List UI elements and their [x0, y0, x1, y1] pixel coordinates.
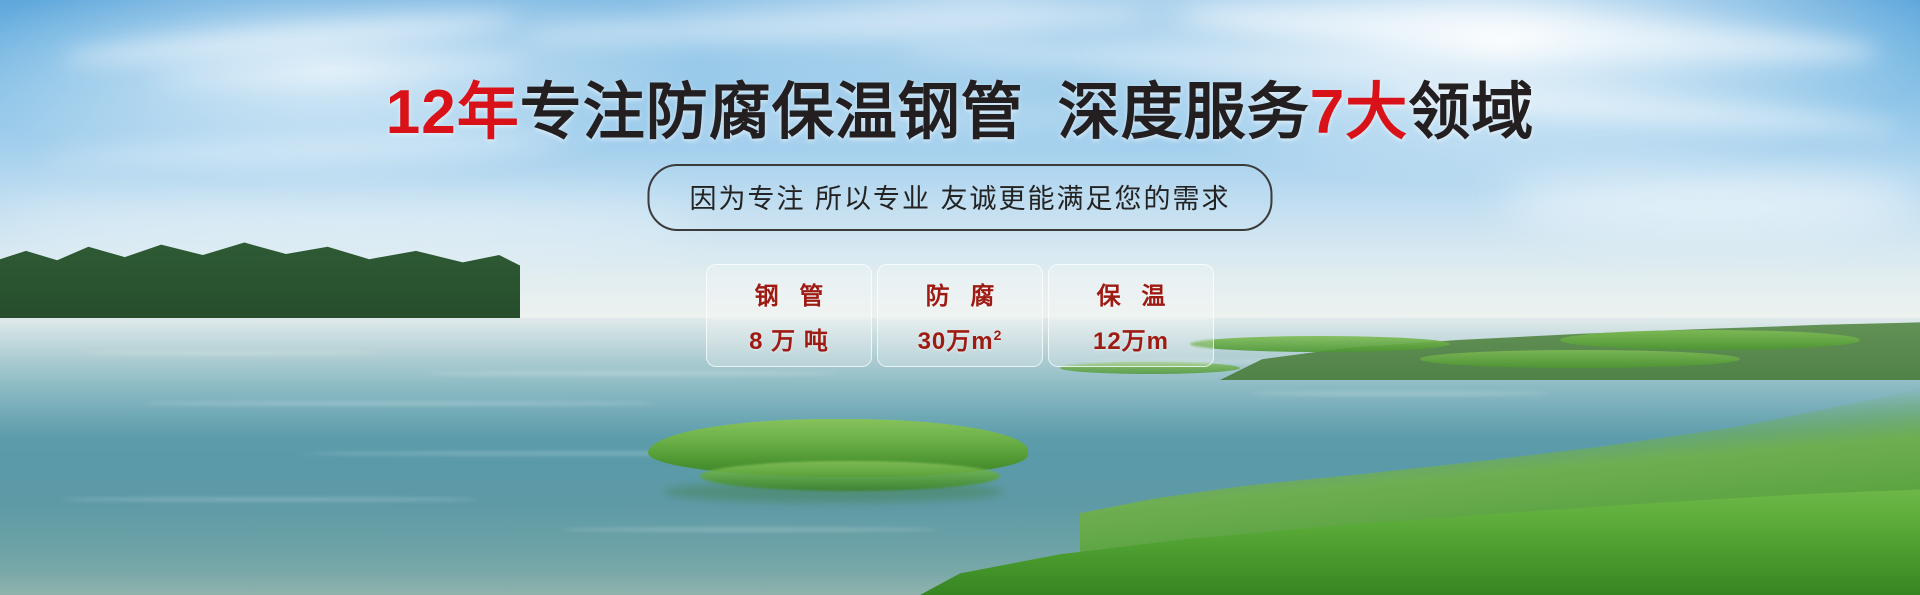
grass-islet	[1420, 350, 1740, 368]
water-ripple	[80, 352, 380, 355]
subtitle-pill: 因为专注 所以专业 友诚更能满足您的需求	[647, 164, 1272, 231]
stat-card-steel-pipe[interactable]: 钢 管 8 万 吨	[706, 264, 872, 367]
stat-card-label: 保 温	[1090, 276, 1173, 311]
island-ridge	[700, 461, 1000, 491]
cloud-haze	[1500, 170, 1920, 230]
grass-islet	[1560, 330, 1860, 350]
headline-service-text: 深度服务	[1058, 78, 1310, 147]
page-title: 12年专注防腐保温钢管深度服务7大领域	[0, 82, 1920, 144]
stat-card-value: 30万m2	[918, 321, 1003, 356]
water-ripple	[420, 372, 840, 375]
headline-years-unit: 年	[457, 78, 520, 147]
water-ripple	[140, 402, 660, 405]
stat-card-label: 防 腐	[919, 276, 1002, 311]
headline-focus-text: 专注防腐保温钢管	[520, 78, 1024, 147]
stat-card-label: 钢 管	[748, 276, 831, 311]
headline-fields-number: 7	[1310, 78, 1345, 147]
grass-islet	[1190, 336, 1450, 352]
stat-card-value: 12万m	[1093, 321, 1169, 356]
water-ripple	[560, 528, 940, 531]
headline-fields-unit: 大	[1345, 78, 1408, 147]
cloud-wisp	[520, 0, 1141, 51]
stat-card-value: 8 万 吨	[749, 321, 829, 356]
stat-card-group: 钢 管 8 万 吨 防 腐 30万m2 保 温 12万m	[706, 264, 1214, 367]
hero-banner: 12年专注防腐保温钢管深度服务7大领域 因为专注 所以专业 友诚更能满足您的需求…	[0, 0, 1920, 595]
stat-card-value-main: 30万m	[918, 328, 994, 355]
stat-card-insulation[interactable]: 保 温 12万m	[1048, 264, 1214, 367]
cloud-haze	[0, 196, 700, 246]
cloud-wisp	[900, 39, 1440, 80]
headline-years-number: 12	[386, 78, 457, 147]
water-ripple	[60, 498, 480, 501]
stat-card-anticorrosion[interactable]: 防 腐 30万m2	[877, 264, 1043, 367]
stat-card-value-sup: 2	[994, 327, 1003, 343]
headline-fields-text: 领域	[1408, 78, 1534, 147]
water-ripple	[1250, 392, 1550, 395]
